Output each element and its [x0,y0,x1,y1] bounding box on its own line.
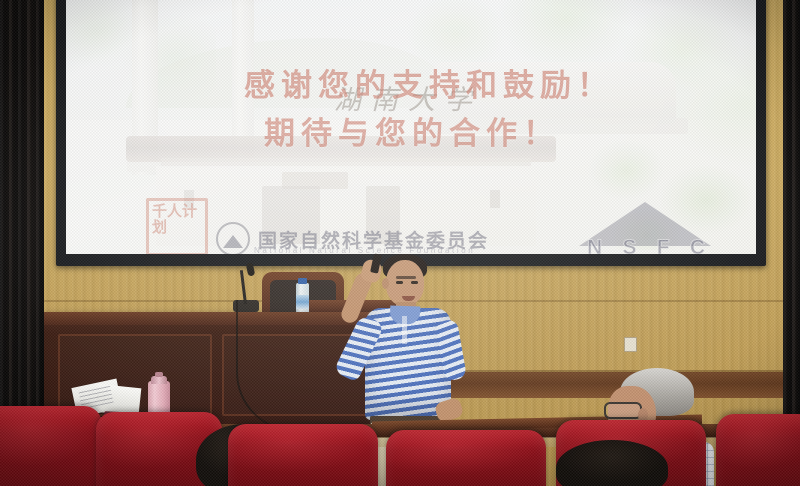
auditorium-photo: 湖南大学 感谢您的支持和鼓励！ 期待与您的合作！ 千人计划 国家自然科学基金委员… [0,0,800,486]
scene-vignette [0,0,800,486]
